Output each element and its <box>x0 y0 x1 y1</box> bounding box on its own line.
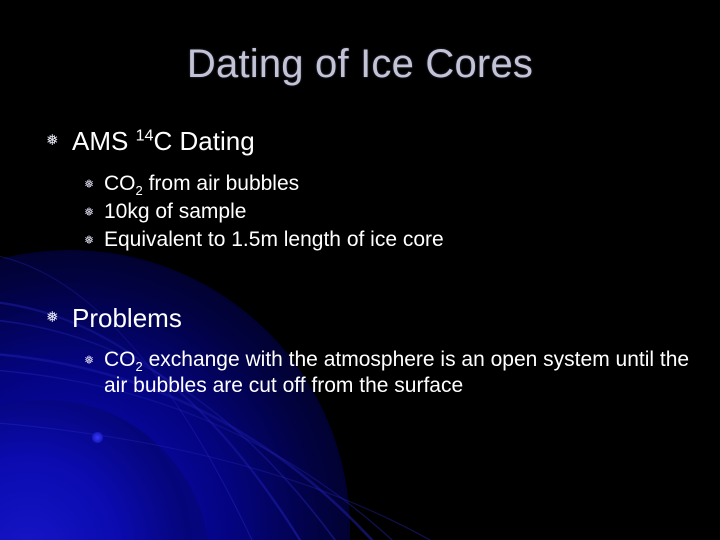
bullet-level2-label: Equivalent to 1.5m length of ice core <box>104 227 700 252</box>
item-subscript: 2 <box>136 360 143 375</box>
background-glow-inner <box>0 400 210 540</box>
bullet-level1-label: AMS 14C Dating <box>72 126 255 157</box>
bullet-level1-problems: ❅ Problems <box>40 303 700 334</box>
spacer <box>40 335 700 347</box>
bullet-level1-label: Problems <box>72 303 182 334</box>
item-text-after: exchange with the atmosphere is an open … <box>104 348 689 396</box>
bullet-level2-co2-air-bubbles: ❅ CO2 from air bubbles <box>40 171 700 197</box>
bullet-level2-label: CO2 from air bubbles <box>104 171 700 196</box>
item-text-before: CO <box>104 348 136 371</box>
bullet-level2-label: CO2 exchange with the atmosphere is an o… <box>104 347 700 397</box>
heading-text-after: C Dating <box>154 126 255 156</box>
item-text-before: CO <box>104 172 136 195</box>
item-text-before: Equivalent to 1.5m length of ice core <box>104 228 444 251</box>
snowflake-bullet-icon: ❅ <box>84 171 104 197</box>
snowflake-bullet-icon: ❅ <box>40 303 72 333</box>
item-subscript: 2 <box>136 183 143 198</box>
heading-superscript: 14 <box>136 126 154 144</box>
heading-text-before: AMS <box>72 126 136 156</box>
bullet-level2-label: 10kg of sample <box>104 199 700 224</box>
bullet-level1-ams: ❅ AMS 14C Dating <box>40 126 700 157</box>
snowflake-bullet-icon: ❅ <box>84 227 104 253</box>
heading-text-before: Problems <box>72 303 182 333</box>
snowflake-bullet-icon: ❅ <box>84 347 104 373</box>
spacer <box>40 159 700 171</box>
slide-body: ❅ AMS 14C Dating ❅ CO2 from air bubbles … <box>40 126 700 400</box>
item-text-before: 10kg of sample <box>104 200 246 223</box>
bullet-level2-core-length: ❅ Equivalent to 1.5m length of ice core <box>40 227 700 253</box>
bullet-level2-sample-weight: ❅ 10kg of sample <box>40 199 700 225</box>
item-text-after: from air bubbles <box>143 172 299 195</box>
bullet-level2-co2-exchange: ❅ CO2 exchange with the atmosphere is an… <box>40 347 700 397</box>
presentation-slide: Dating of Ice Cores ❅ AMS 14C Dating ❅ C… <box>0 0 720 540</box>
background-accent-dot <box>92 432 103 443</box>
snowflake-bullet-icon: ❅ <box>84 199 104 225</box>
slide-title: Dating of Ice Cores <box>0 42 720 86</box>
snowflake-bullet-icon: ❅ <box>40 126 72 156</box>
spacer <box>40 255 700 303</box>
